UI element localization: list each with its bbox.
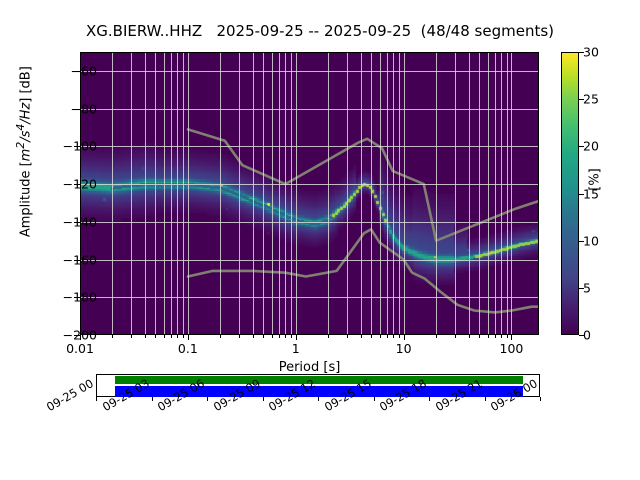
timeline-tick-mark [485,397,486,401]
grid-line-vertical [501,52,502,335]
x-minor-tick [328,335,329,338]
grid-line-horizontal [80,222,539,223]
grid-line-horizontal [80,260,539,261]
grid-line-vertical [393,52,394,335]
timeline-band-data-availability [115,376,523,384]
x-minor-tick [279,335,280,338]
timeline-tick-mark [429,397,430,401]
x-minor-tick [112,335,113,338]
noise-model-nlnm [188,229,539,312]
timeline-tick-mark [96,397,97,401]
x-minor-tick [495,335,496,338]
grid-line-vertical [177,52,178,335]
colorbar-tick-label: 5 [583,280,591,295]
x-minor-tick [220,335,221,338]
grid-line-vertical [479,52,480,335]
y-tick-mark [74,222,80,223]
x-axis-label: Period [s] [80,360,539,375]
x-minor-tick [263,335,264,338]
grid-line-vertical [112,52,113,335]
grid-line-vertical [488,52,489,335]
x-minor-tick [387,335,388,338]
ppsd-figure: XG.BIERW..HHZ 2025-09-25 -- 2025-09-25 (… [0,0,640,480]
x-minor-tick [399,335,400,338]
grid-line-vertical [145,52,146,335]
grid-line-vertical [436,52,437,335]
timeline-tick-mark [263,397,264,401]
x-minor-tick [155,335,156,338]
y-tick-mark [74,184,80,185]
grid-line-vertical [371,52,372,335]
x-minor-tick [177,335,178,338]
grid-line-vertical [272,52,273,335]
grid-line-vertical [469,52,470,335]
grid-line-vertical [183,52,184,335]
x-tick-mark [511,335,512,340]
x-tick-mark [80,335,81,340]
x-tick-label: 0.1 [178,341,198,356]
x-tick-label: 1 [292,341,300,356]
colorbar-tick-mark [579,146,584,147]
x-minor-tick [253,335,254,338]
grid-line-vertical [296,52,297,335]
x-minor-tick [393,335,394,338]
x-minor-tick [361,335,362,338]
grid-line-vertical [347,52,348,335]
x-minor-tick [183,335,184,338]
timeline-tick-label: 09-25 00 [44,376,96,414]
grid-line-vertical [399,52,400,335]
x-minor-tick [145,335,146,338]
y-tick-mark [74,71,80,72]
grid-line-vertical [285,52,286,335]
grid-line-vertical [291,52,292,335]
x-tick-label: 100 [500,341,524,356]
x-minor-tick [380,335,381,338]
colorbar-tick-mark [579,241,584,242]
x-minor-tick [239,335,240,338]
grid-line-vertical [404,52,405,335]
colorbar-label: [%] [588,160,603,200]
x-tick-mark [296,335,297,340]
grid-line-vertical [328,52,329,335]
timeline-tick-mark [207,397,208,401]
grid-line-vertical [253,52,254,335]
colorbar [561,52,579,335]
x-tick-mark [188,335,189,340]
timeline-tick-mark [374,397,375,401]
x-minor-tick [371,335,372,338]
colorbar-tick-mark [579,335,584,336]
grid-line-vertical [155,52,156,335]
x-minor-tick [164,335,165,338]
colorbar-tick-label: 30 [583,45,599,60]
x-minor-tick [272,335,273,338]
x-tick-mark [404,335,405,340]
x-minor-tick [131,335,132,338]
grid-line-vertical [361,52,362,335]
colorbar-tick-label: 0 [583,328,591,343]
colorbar-tick-label: 10 [583,233,599,248]
timeline-tick-mark [318,397,319,401]
x-minor-tick [507,335,508,338]
grid-line-vertical [131,52,132,335]
figure-title: XG.BIERW..HHZ 2025-09-25 -- 2025-09-25 (… [0,22,640,40]
colorbar-tick-label: 25 [583,92,599,107]
x-minor-tick [469,335,470,338]
grid-line-horizontal [80,109,539,110]
x-minor-tick [488,335,489,338]
x-minor-tick [347,335,348,338]
grid-line-vertical [171,52,172,335]
y-tick-mark [74,146,80,147]
timeline-tick-mark [152,397,153,401]
grid-line-vertical [263,52,264,335]
y-tick-mark [74,260,80,261]
colorbar-tick-mark [579,194,584,195]
grid-line-vertical [279,52,280,335]
grid-line-vertical [511,52,512,335]
grid-line-vertical [387,52,388,335]
colorbar-tick-label: 20 [583,139,599,154]
grid-line-horizontal [80,71,539,72]
colorbar-tick-mark [579,52,584,53]
timeline-tick-mark [540,397,541,401]
x-tick-label: 10 [396,341,412,356]
grid-line-vertical [164,52,165,335]
grid-line-horizontal [80,146,539,147]
x-minor-tick [501,335,502,338]
grid-line-vertical [455,52,456,335]
y-tick-mark [74,109,80,110]
noise-model-overlay [80,52,539,335]
grid-line-vertical [495,52,496,335]
colorbar-tick-mark [579,288,584,289]
grid-line-vertical [507,52,508,335]
x-minor-tick [479,335,480,338]
x-minor-tick [291,335,292,338]
grid-line-vertical [239,52,240,335]
colorbar-tick-mark [579,99,584,100]
x-minor-tick [455,335,456,338]
ppsd-plot-area [80,52,539,335]
grid-line-vertical [380,52,381,335]
grid-line-horizontal [80,297,539,298]
x-minor-tick [285,335,286,338]
x-minor-tick [171,335,172,338]
y-axis-label: Amplitude [m2/s4/Hz] [dB] [14,22,33,282]
x-tick-label: 0.01 [66,341,94,356]
y-tick-mark [74,297,80,298]
x-minor-tick [436,335,437,338]
grid-line-horizontal [80,184,539,185]
grid-line-vertical [188,52,189,335]
grid-line-vertical [220,52,221,335]
